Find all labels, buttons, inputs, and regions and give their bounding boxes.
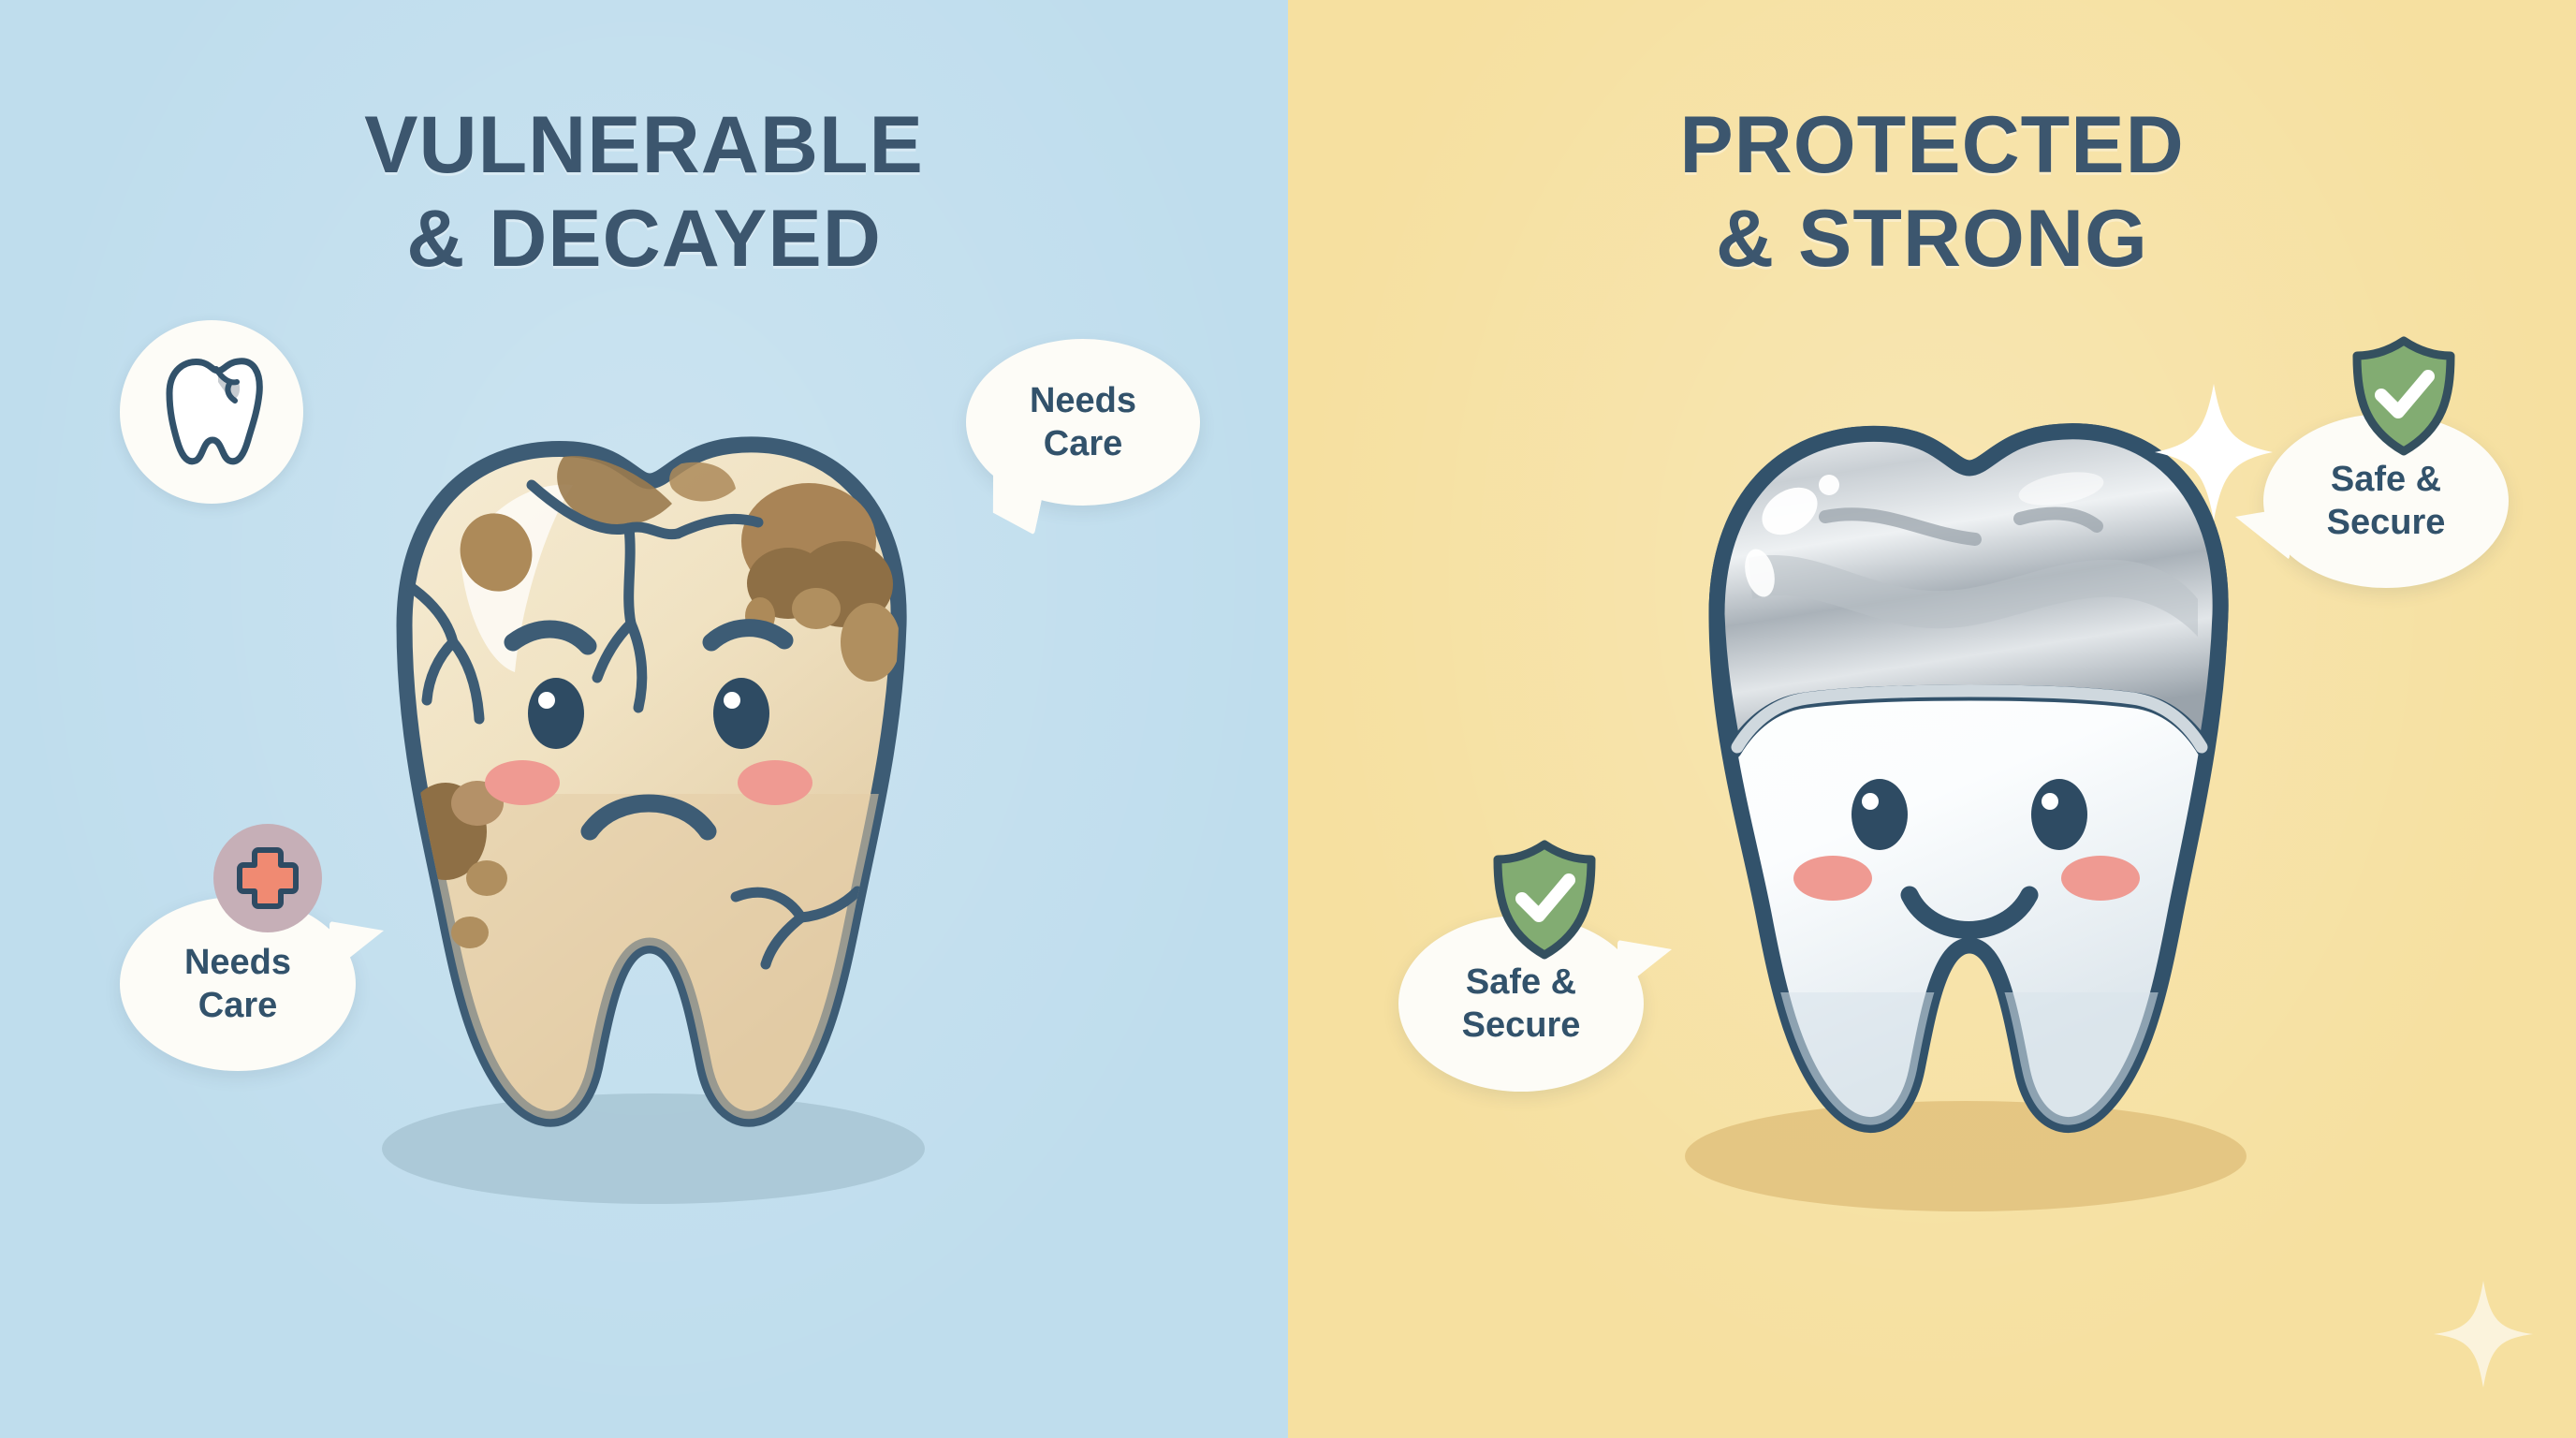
needs-care-bubble-top[interactable]: Needs Care (966, 339, 1200, 506)
bubble-line1: Safe & (2331, 460, 2441, 499)
sparkle-icon (2153, 382, 2275, 522)
bubble-text: Safe & Secure (1445, 961, 1598, 1048)
right-headline-line2: & STRONG (1288, 198, 2576, 279)
shield-check-badge-left[interactable] (1490, 839, 1599, 961)
shield-check-badge-right[interactable] (2349, 335, 2458, 457)
left-headline-line2: & DECAYED (0, 198, 1288, 279)
left-headline-line1: VULNERABLE (364, 100, 924, 190)
blush-left (485, 760, 560, 805)
bubble-tail (1617, 940, 1672, 992)
bubble-line1: Needs (184, 943, 291, 982)
blush-right (738, 760, 812, 805)
blush-right (2061, 856, 2140, 901)
shield-check-icon (2349, 335, 2458, 457)
comparison-infographic: VULNERABLE & DECAYED (0, 0, 2576, 1438)
eye-right (2031, 779, 2087, 850)
right-headline-line1: PROTECTED (1679, 100, 2184, 190)
bubble-line2: Secure (1462, 1005, 1581, 1045)
eye-right (713, 678, 769, 749)
bubble-text: Safe & Secure (2310, 458, 2463, 545)
left-headline: VULNERABLE & DECAYED (0, 105, 1288, 279)
eye-left (528, 678, 584, 749)
decayed-tooth-character (348, 391, 947, 1168)
bubble-line1: Needs (1030, 381, 1136, 420)
bubble-line2: Care (198, 986, 278, 1025)
right-headline: PROTECTED & STRONG (1288, 105, 2576, 279)
bubble-line1: Safe & (1466, 962, 1576, 1002)
blush-left (1793, 856, 1872, 901)
cracked-tooth-icon (156, 354, 267, 470)
medical-cross-badge[interactable] (213, 824, 322, 932)
cracked-tooth-badge[interactable] (120, 320, 303, 504)
bubble-tail (329, 921, 384, 974)
eye-left (1851, 779, 1908, 850)
vulnerable-decayed-panel: VULNERABLE & DECAYED (0, 0, 1288, 1438)
shield-check-icon (1490, 839, 1599, 961)
bubble-tail (981, 467, 1046, 536)
bubble-line2: Care (1044, 424, 1123, 463)
sparkle-icon (2432, 1279, 2535, 1389)
bubble-text: Needs Care (168, 941, 308, 1028)
corner-sparkle (2432, 1279, 2535, 1389)
crown-sparkle (2153, 382, 2275, 522)
medical-cross-icon (232, 843, 303, 914)
bubble-text: Needs Care (1013, 379, 1153, 466)
bubble-line2: Secure (2327, 503, 2446, 542)
